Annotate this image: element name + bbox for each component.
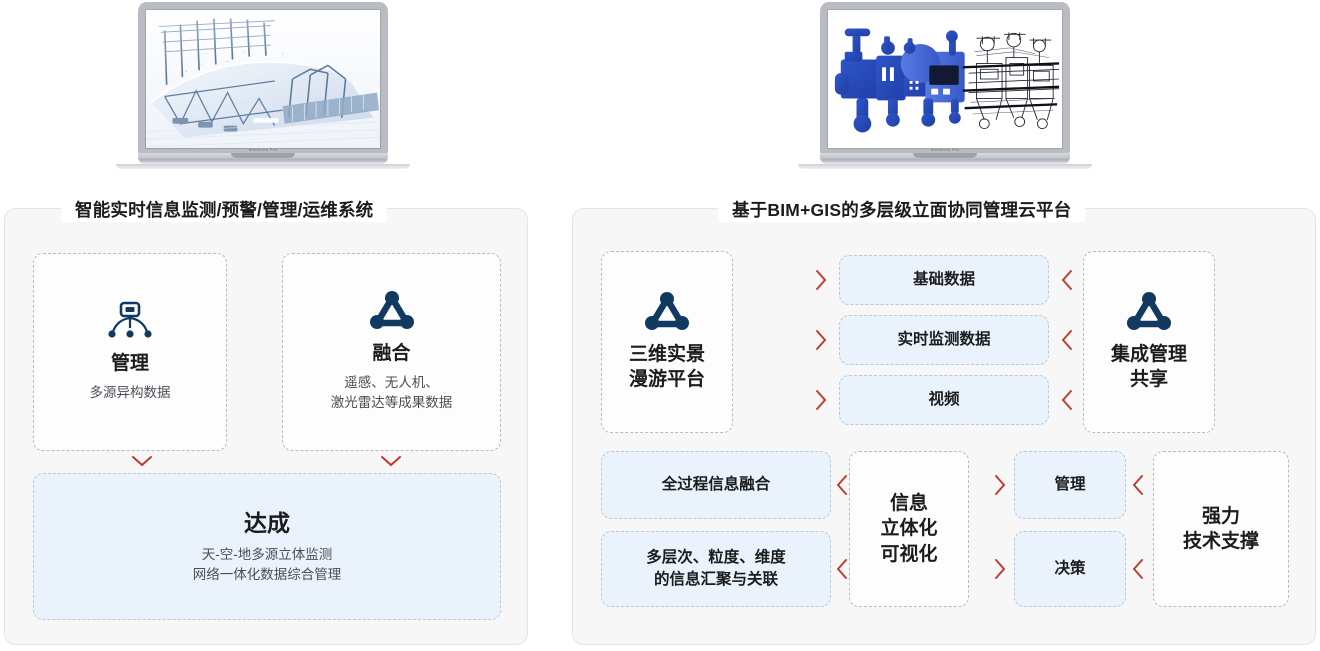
chevron-right-icon [993,474,1007,496]
chevron-left-icon [1131,474,1145,496]
card-base-data[interactable]: 基础数据 [839,255,1049,305]
bridge-point-cloud-model [145,9,381,149]
card-management-title: 管理 [111,351,149,376]
laptop-left-base: MacBook Pro [138,153,388,164]
laptop-left-brand: MacBook Pro [249,147,277,152]
laptop-right-notch [913,153,977,158]
laptop-left-foot [116,164,410,169]
right-panel: 基于BIM+GIS的多层级立面协同管理云平台 三维实景 漫游平台 [572,208,1316,645]
card-achievement[interactable]: 达成 天-空-地多源立体监测 网络一体化数据综合管理 [33,473,501,620]
card-achievement-title: 达成 [244,508,290,538]
label-line: 全过程信息融合 [662,474,771,496]
title-line: 技术支撑 [1183,529,1259,554]
card-management-row2-label: 管理 [1054,474,1085,496]
chevron-left-icon [1060,329,1074,351]
card-management[interactable]: 管理 多源异构数据 [33,253,227,451]
card-achievement-sub-line: 网络一体化数据综合管理 [193,565,342,585]
card-fusion-sub-line: 激光雷达等成果数据 [331,393,453,413]
card-fusion-sub-line: 遥感、无人机、 [331,373,453,393]
title-line: 三维实景 [629,342,705,367]
laptop-left-screen [138,2,388,154]
card-management-row2[interactable]: 管理 [1014,451,1126,519]
card-fusion-title: 融合 [372,341,410,366]
laptop-left-notch [231,153,295,158]
title-line: 集成管理 [1111,342,1187,367]
card-realtime-monitoring-data[interactable]: 实时监测数据 [839,315,1049,365]
chevron-left-icon [1131,558,1145,580]
card-fusion[interactable]: 融合 遥感、无人机、 激光雷达等成果数据 [282,253,501,451]
card-achievement-sub-line: 天-空-地多源立体监测 [193,545,342,565]
card-video[interactable]: 视频 [839,375,1049,425]
fusion-nodes-icon [645,292,689,332]
title-line: 漫游平台 [629,367,705,392]
card-realtime-monitoring-data-label: 实时监测数据 [897,329,990,351]
card-info-3d-visualization-title: 信息 立体化 可视化 [880,491,937,566]
card-base-data-label: 基础数据 [913,269,975,291]
laptop-left: MacBook Pro [138,2,388,169]
chevron-down-icon [131,454,153,468]
card-whole-process-info-fusion-label: 全过程信息融合 [662,474,771,496]
chevron-right-icon [993,558,1007,580]
diagram-root: MacBook Pro [0,0,1320,651]
card-strong-technical-support[interactable]: 强力 技术支撑 [1153,451,1289,607]
left-panel-title: 智能实时信息监测/预警/管理/运维系统 [61,197,387,222]
chevron-right-icon [814,389,828,411]
laptop-right: MacBook Pro [820,2,1070,169]
industrial-plant-bim-model [827,9,1063,149]
card-integrated-management-sharing[interactable]: 集成管理 共享 [1083,251,1215,433]
card-3d-roaming-platform[interactable]: 三维实景 漫游平台 [601,251,733,433]
laptop-right-foot [798,164,1092,169]
card-info-3d-visualization[interactable]: 信息 立体化 可视化 [849,451,969,607]
card-multilevel-info-aggregation-label: 多层次、粒度、维度 的信息汇聚与关联 [646,547,786,591]
right-panel-title: 基于BIM+GIS的多层级立面协同管理云平台 [718,197,1085,222]
card-integrated-management-sharing-title: 集成管理 共享 [1111,342,1187,392]
chevron-right-icon [814,269,828,291]
chevron-left-icon [835,558,849,580]
card-video-label: 视频 [928,389,959,411]
chevron-right-icon [814,329,828,351]
title-line: 共享 [1111,367,1187,392]
title-line: 立体化 [880,516,937,541]
laptop-right-base: MacBook Pro [820,153,1070,164]
card-fusion-sub: 遥感、无人机、 激光雷达等成果数据 [331,373,453,414]
label-line: 的信息汇聚与关联 [646,569,786,591]
card-multilevel-info-aggregation[interactable]: 多层次、粒度、维度 的信息汇聚与关联 [601,531,831,607]
title-line: 强力 [1183,504,1259,529]
card-whole-process-info-fusion[interactable]: 全过程信息融合 [601,451,831,519]
card-achievement-sub: 天-空-地多源立体监测 网络一体化数据综合管理 [193,545,342,586]
chevron-left-icon [1060,389,1074,411]
card-decision-label: 决策 [1054,558,1085,580]
chevron-down-icon [380,454,402,468]
monitor-network-icon [107,301,153,341]
card-3d-roaming-platform-title: 三维实景 漫游平台 [629,342,705,392]
chevron-left-icon [1060,269,1074,291]
laptop-right-screen [820,2,1070,154]
fusion-nodes-icon [1127,292,1171,332]
title-line: 信息 [880,491,937,516]
fusion-nodes-icon [370,291,414,331]
laptop-right-brand: MacBook Pro [931,147,959,152]
left-panel: 智能实时信息监测/预警/管理/运维系统 管理 多源异构数据 [4,208,528,645]
card-strong-technical-support-title: 强力 技术支撑 [1183,504,1259,554]
chevron-left-icon [835,474,849,496]
title-line: 可视化 [880,542,937,567]
card-management-sub: 多源异构数据 [90,383,171,403]
label-line: 多层次、粒度、维度 [646,547,786,569]
card-decision[interactable]: 决策 [1014,531,1126,607]
